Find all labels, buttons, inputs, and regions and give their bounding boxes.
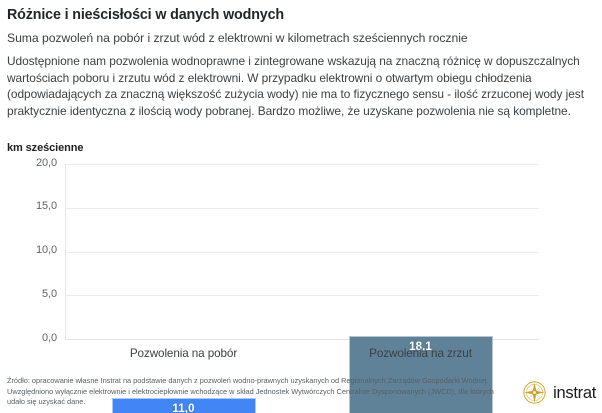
chart-title: Różnice i nieścisłości w danych wodnych xyxy=(7,6,595,25)
brand-name: instrat xyxy=(553,384,596,402)
x-axis-label: Pozwolenia na pobór xyxy=(65,347,302,360)
source-note: Źródło: opracowanie własne Instrat na po… xyxy=(7,376,502,408)
chart-subtitle: Suma pozwoleń na pobór i zrzut wód z ele… xyxy=(7,30,595,47)
x-axis-label: Pozwolenia na zrzut xyxy=(302,347,539,360)
chart-description: Udostępnione nam pozwolenia wodnoprawne … xyxy=(7,53,595,119)
chart-page: Różnice i nieścisłości w danych wodnych … xyxy=(0,0,602,413)
chart-header: Różnice i nieścisłości w danych wodnych … xyxy=(7,6,595,119)
compass-rose-icon xyxy=(523,381,546,404)
chart-plot: 0,05,010,015,020,0 11,018,1 Pozwolenia n… xyxy=(0,155,602,370)
chart-footer: Źródło: opracowanie własne Instrat na po… xyxy=(7,376,502,408)
y-axis-unit-label: km sześcienne xyxy=(7,142,83,154)
brand-logo: instrat xyxy=(523,381,596,404)
